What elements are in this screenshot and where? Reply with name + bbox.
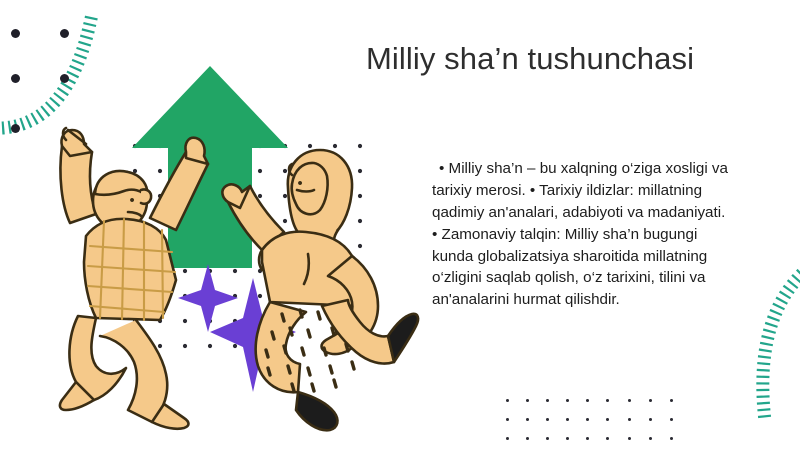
- bottom-right-decoration-group: [735, 265, 800, 425]
- body-text: • Milliy sha’n – bu xalqning o‘ziga xosl…: [432, 158, 734, 311]
- bottom-right-dashed-arc-icon: [735, 265, 800, 425]
- illustration-two-people-with-arrow: [0, 18, 430, 450]
- bottom-dot-grid: [506, 399, 696, 449]
- figure-man-plaid: [60, 128, 208, 429]
- purple-sparkle-icon: [178, 264, 238, 332]
- body-paragraph: • Milliy sha’n – bu xalqning o‘ziga xosl…: [432, 160, 728, 308]
- page-title: Milliy sha’n tushunchasi: [366, 40, 766, 77]
- slide-canvas: Milliy sha’n tushunchasi • Milliy sha’n …: [0, 0, 800, 450]
